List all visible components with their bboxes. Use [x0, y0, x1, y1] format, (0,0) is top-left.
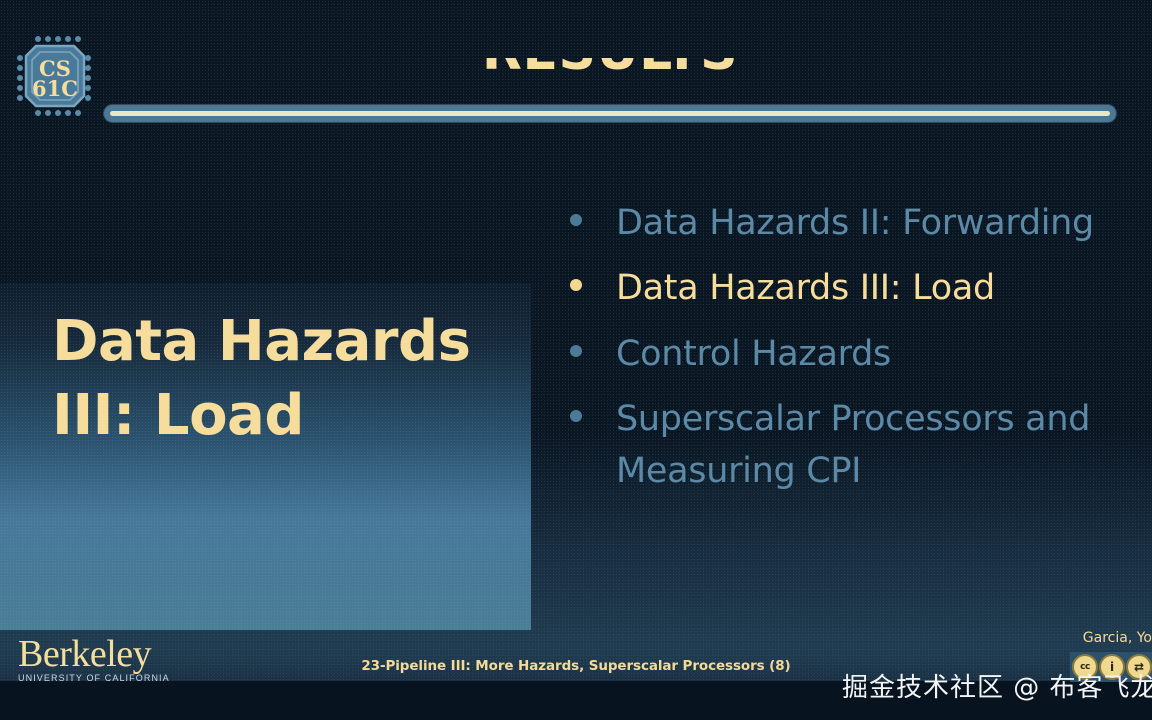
slide-title: RESULTS [110, 58, 1110, 82]
watermark-text: 掘金技术社区 @ 布客飞龙 [842, 667, 1152, 704]
footer-author: Garcia, Yo [1083, 630, 1152, 646]
bullet-icon [570, 279, 582, 291]
title-divider [104, 105, 1116, 122]
bullet-icon [570, 345, 582, 357]
agenda-item-label: Control Hazards [616, 329, 1130, 380]
slide-title-clip: RESULTS [110, 58, 1110, 83]
cs61c-chip-logo: CS 61C [12, 30, 94, 122]
agenda-item-data-hazards-ii[interactable]: Data Hazards II: Forwarding [570, 198, 1130, 249]
agenda-item-label: Data Hazards II: Forwarding [616, 198, 1130, 249]
section-panel: Data Hazards III: Load [0, 283, 531, 630]
agenda-list: Data Hazards II: Forwarding Data Hazards… [570, 198, 1130, 511]
agenda-item-control-hazards[interactable]: Control Hazards [570, 329, 1130, 380]
bullet-icon [570, 214, 582, 226]
logo-line2: 61C [32, 76, 78, 101]
agenda-item-data-hazards-iii[interactable]: Data Hazards III: Load [570, 263, 1130, 314]
slide-canvas: CS 61C RESULTS Data Hazards III: Load Da… [0, 0, 1152, 720]
bullet-icon [570, 410, 582, 422]
section-panel-title: Data Hazards III: Load [52, 305, 522, 453]
agenda-item-label: Superscalar Processors and Measuring CPI [616, 394, 1130, 497]
berkeley-subtitle: UNIVERSITY OF CALIFORNIA [18, 673, 188, 683]
agenda-item-superscalar-processors[interactable]: Superscalar Processors and Measuring CPI [570, 394, 1130, 497]
agenda-item-label: Data Hazards III: Load [616, 263, 1130, 314]
